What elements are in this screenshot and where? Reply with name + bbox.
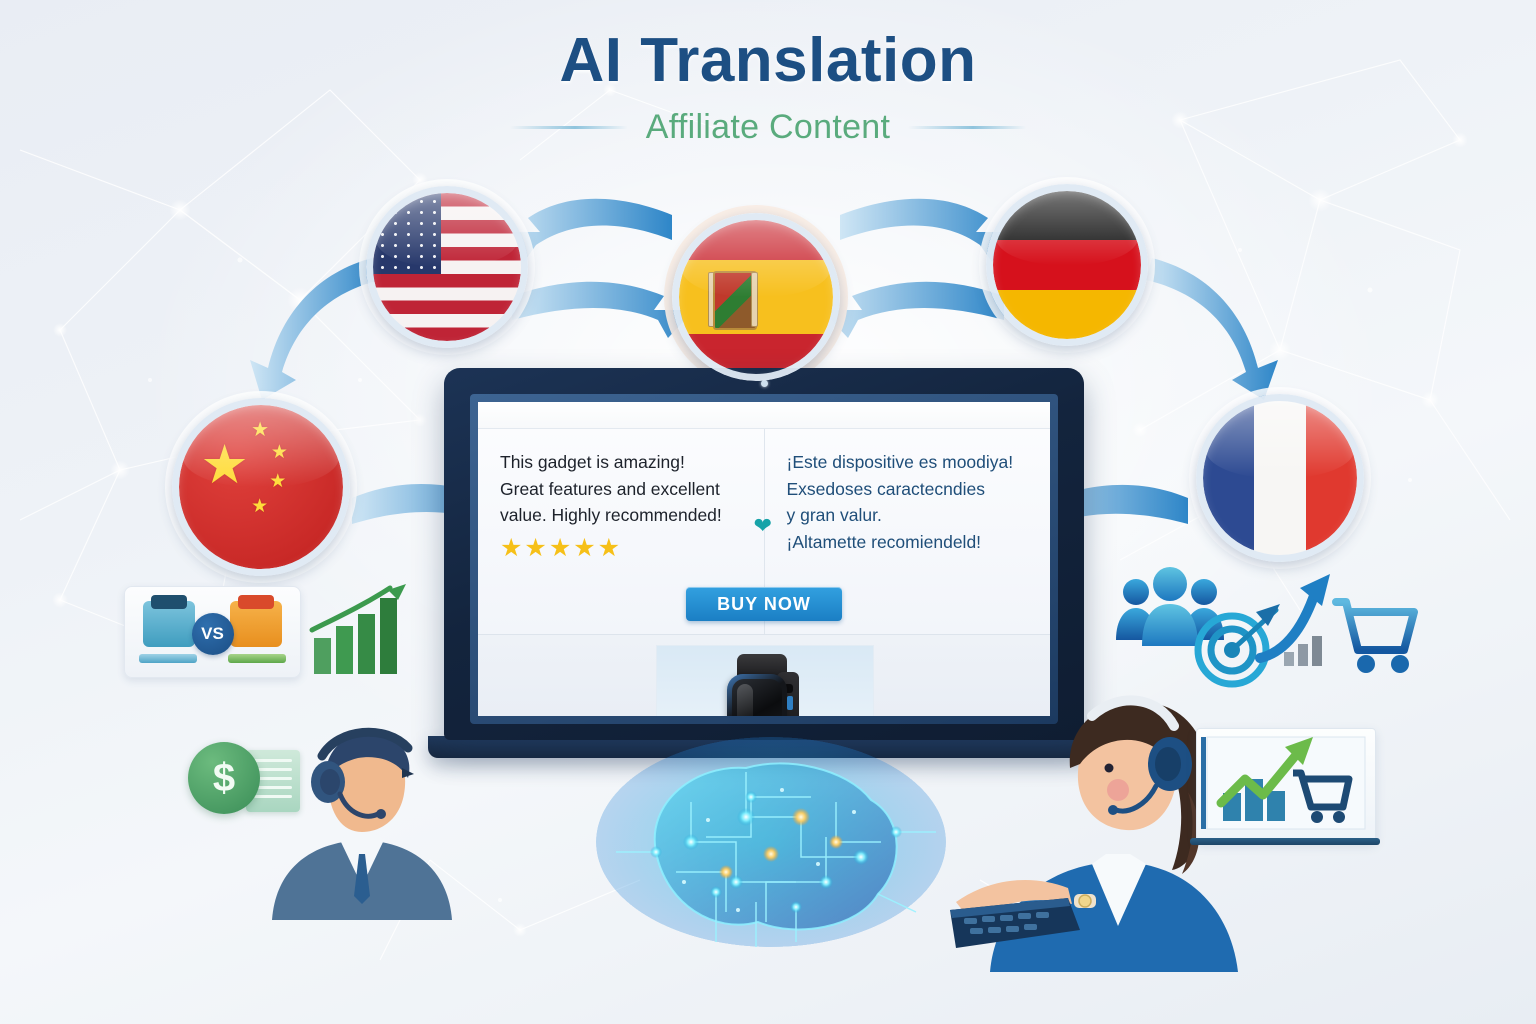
- arrow-de-to-fr: [1146, 258, 1278, 400]
- page-title: AI Translation: [0, 30, 1536, 92]
- arrow-de-to-es: [822, 282, 1004, 338]
- dollar-coin-icon: $: [188, 742, 260, 814]
- flag-badge-germany[interactable]: [986, 184, 1148, 346]
- vs-badge: VS: [192, 613, 234, 655]
- review-line: value. Highly recommended!: [500, 502, 746, 529]
- review-line: ¡Altamette recomiendeld!: [787, 529, 1033, 556]
- arrow-us-to-es: [512, 282, 694, 338]
- infographic-canvas: AI Translation Affiliate Content: [0, 0, 1536, 1024]
- audience-conversion-icons: [1108, 566, 1418, 686]
- browser-toolbar: [478, 402, 1050, 429]
- page-subtitle: Affiliate Content: [646, 108, 891, 147]
- product-comparison-card[interactable]: VS: [124, 586, 301, 678]
- heart-icon: ❤: [754, 513, 772, 539]
- review-line: Great features and excellent: [500, 476, 746, 503]
- review-line: y gran valur.: [787, 502, 1033, 529]
- product-image-tile: [656, 645, 874, 716]
- arrow-us-to-cn: [250, 258, 380, 400]
- subtitle-rule-left: [510, 126, 628, 129]
- money-commission-icon: $: [188, 740, 300, 818]
- flag-badge-united-states[interactable]: [366, 186, 528, 348]
- growth-bar-chart-icon: [310, 584, 420, 676]
- audience-group-icon: [1116, 567, 1224, 646]
- dashboard-card-stand: [1190, 838, 1380, 845]
- webcam-icon: [761, 380, 768, 387]
- ai-brain-icon: [596, 742, 946, 952]
- review-line: Exsedoses caractecndies: [787, 476, 1033, 503]
- shopping-cart-icon: [1336, 602, 1414, 673]
- review-line: This gadget is amazing!: [500, 449, 746, 476]
- page-header: AI Translation Affiliate Content: [0, 30, 1536, 147]
- review-line: ¡Este dispositive es moodiya!: [787, 449, 1033, 476]
- flag-badge-spain[interactable]: [672, 213, 840, 381]
- subtitle-rule-right: [908, 126, 1026, 129]
- flag-badge-china[interactable]: ★ ★ ★ ★ ★: [172, 398, 350, 576]
- star-rating: ★★★★★: [500, 536, 746, 561]
- smartwatch-icon: [713, 654, 817, 716]
- buy-now-button[interactable]: BUY NOW: [686, 587, 842, 621]
- flag-badge-france[interactable]: [1196, 394, 1364, 562]
- screen-content: This gadget is amazing! Great features a…: [478, 402, 1050, 716]
- conversion-dashboard-icon[interactable]: [1196, 728, 1376, 842]
